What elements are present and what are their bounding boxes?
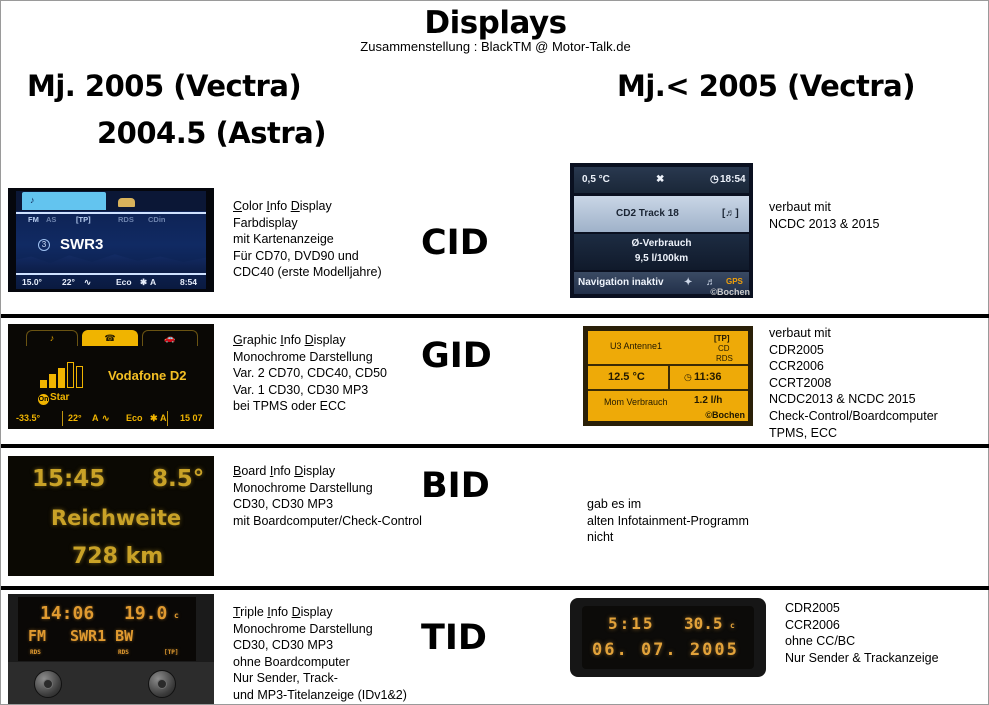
gid-outside-temp: -33.5° [16,413,40,423]
bid-clock: 15:45 [32,466,105,492]
gid-tab-row: ♪ ☎ 🚗 [26,330,202,346]
cid2-consumption-value: 9,5 l/100km [574,253,749,264]
bid-note-line-1: gab es im [587,496,749,513]
tid-description: Triple Info Display Monochrome Darstellu… [233,604,407,704]
bid-acronym: BID [421,466,490,506]
cid-outside-temp: 15.0° [22,277,42,287]
clock-icon: ◷ [710,174,719,185]
gid-note-line-4: CCRT2008 [769,375,938,392]
cid-eco: Eco [116,277,132,287]
cid-label-tp: [TP] [76,215,91,224]
bid-description: Board Info Display Monochrome Darstellun… [233,463,422,529]
car-icon: 🚗 [164,333,175,344]
volume-knob[interactable] [34,670,62,698]
cid2-nav-status: Navigation inaktiv [578,277,664,288]
car-icon [118,198,135,207]
tid-desc-line-6: und MP3-Titelanzeige (IDv1&2) [233,687,407,704]
cid2-top-bar: 0,5 °C ✖ ◷ 18:54 [574,167,749,193]
tid-bezel: 14:06 19.0 c FM SWR1 BW RDS RDS [TP] [8,594,214,662]
gid2-divider-bottom [588,389,748,391]
cid2-track-bar: CD2 Track 18 [♬] [574,196,749,232]
gid-auto-mode: A [92,413,99,423]
star-icon: ✦ [684,277,692,288]
tid-temp: 19.0 [124,603,167,624]
cid-label-as: AS [46,215,56,224]
tid-faceplate [8,662,214,704]
row-bid: 15:45 8.5° Reichweite 728 km Board Info … [1,448,989,586]
gid-note-line-6: Check-Control/Boardcomputer [769,408,938,425]
gid-description: Graphic Info Display Monochrome Darstell… [233,332,387,415]
row-tid: 14:06 19.0 c FM SWR1 BW RDS RDS [TP] Tri… [1,590,989,705]
gid2-consumption-label: Mom Verbrauch [604,397,668,407]
cid2-consumption: Ø-Verbrauch 9,5 l/100km [574,234,749,270]
cid-desc-line-3: mit Kartenanzeige [233,231,382,248]
music-note-icon: ♪ [30,195,35,205]
bid-label: Reichweite [51,506,181,530]
gid-tab-settings: 🚗 [142,330,198,346]
gid-ac: A [160,413,167,423]
bid-desc-line-3: CD30, CD30 MP3 [233,496,422,513]
signal-strength-icon [40,362,80,388]
tid-note-line-1: CDR2005 [785,600,939,617]
gid-note-line-2: CDR2005 [769,342,938,359]
airflow-icon: ∿ [102,413,110,424]
gid-note-line-3: CCR2006 [769,358,938,375]
fan-icon: ✱ [140,277,147,288]
tid-note-line-4: Nur Sender & Trackanzeige [785,650,939,667]
gid-eco: Eco [126,413,143,423]
airflow-icon: ∿ [84,277,91,288]
bid-note-line-3: nicht [587,529,749,546]
tid-screen: 14:06 19.0 c FM SWR1 BW RDS RDS [TP] [18,597,196,661]
page-title: Displays [1,5,989,41]
bid-note-line-2: alten Infotainment-Programm [587,513,749,530]
gid-display-photo: ♪ ☎ 🚗 OnStar Vodafone D2 -33.5° 22° A ∿ … [8,324,214,429]
tuning-knob[interactable] [148,670,176,698]
cd-icon: [♬] [722,208,739,219]
gid2-screen: U3 Antenne1 [TP] CD RDS 12.5 °C ◷ 11:36 … [588,331,748,421]
tid2-date: 06. 07. 2005 [592,640,739,660]
bid-desc-line-2: Monochrome Darstellung [233,480,422,497]
tid-tag-tp: [TP] [164,649,178,656]
page-subtitle: Zusammenstellung : BlackTM @ Motor-Talk.… [1,39,989,54]
cid-desc-line-2: Farbdisplay [233,215,382,232]
tid-desc-line-3: CD30, CD30 MP3 [233,637,407,654]
cid-desc-line-5: CDC40 (erste Modelljahre) [233,264,382,281]
gid-network-name: Vodafone D2 [108,368,187,383]
clock-icon: ◷ [684,372,692,383]
tid-station: SWR1 BW [70,627,133,645]
gid-desc-line-4: Var. 1 CD30, CD30 MP3 [233,382,387,399]
cid-tab-bar: ♪ [16,191,206,211]
gid-desc-line-2: Monochrome Darstellung [233,349,387,366]
gid2-clock: 11:36 [694,371,722,383]
tid2-temp: 30.5 [684,614,723,633]
gid-onstar-text: Star [50,392,69,403]
gid2-temp: 12.5 °C [608,371,645,383]
row-cid: ♪ FM AS [TP] RDS CDin 3 SWR3 15.0° [1,151,989,314]
cid-divider-top [16,212,206,214]
bid-display-photo: 15:45 8.5° Reichweite 728 km [8,456,214,576]
cid-screen: ♪ FM AS [TP] RDS CDin 3 SWR3 15.0° [16,191,206,289]
cid-status-labels: FM AS [TP] RDS CDin [16,215,206,226]
gid-note-line-5: NCDC2013 & NCDC 2015 [769,391,938,408]
gid2-tag-tp: [TP] [714,334,730,343]
cid-map-area [16,251,206,273]
tid-tag-rds-mid: RDS [118,649,129,656]
gid-note-line-1: verbaut mit [769,325,938,342]
tid-note-line-2: CCR2006 [785,617,939,634]
cid-preset-number: 3 [38,239,50,251]
tid-acronym: TID [421,618,487,658]
gid2-watermark: ©Bochen [705,410,745,420]
gid-onstar-label: OnStar [38,392,69,405]
gid-tab-audio: ♪ [26,330,78,346]
cid-status-bar: 15.0° 22° ∿ Eco ✱ A 8:54 [16,276,206,289]
gid-old-display-photo: U3 Antenne1 [TP] CD RDS 12.5 °C ◷ 11:36 … [583,326,753,426]
bid-desc-line-4: mit Boardcomputer/Check-Control [233,513,422,530]
cid-ac: A [150,277,156,287]
tid2-temp-unit: c [730,621,735,630]
gid2-tag-cd: CD [718,344,730,353]
tid-note: CDR2005 CCR2006 ohne CC/BC Nur Sender & … [785,600,939,666]
tid-desc-line-5: Nur Sender, Track- [233,670,407,687]
cid-clock: 8:54 [180,277,197,287]
cid2-consumption-label: Ø-Verbrauch [574,238,749,249]
bid-value: 728 km [72,544,163,569]
cid-note: verbaut mit NCDC 2013 & 2015 [769,199,879,232]
cid-tab-audio: ♪ [22,192,106,210]
tid-old-display-photo: 5:15 30.5 c 06. 07. 2005 [570,598,766,677]
gid-cabin-temp: 22° [68,413,82,423]
gid-tab-phone: ☎ [82,330,138,346]
tid-desc-line-2: Monochrome Darstellung [233,621,407,638]
cid-label-fm: FM [28,215,39,224]
cid2-track-line: CD2 Track 18 [616,208,679,219]
gid2-vertical-divider [668,365,670,389]
gid-desc-line-3: Var. 2 CD70, CDC40, CD50 [233,365,387,382]
tid-band: FM [28,627,46,645]
phone-icon: ☎ [104,333,115,344]
cid2-outside-temp: 0,5 °C [582,174,610,185]
displays-infographic: Displays Zusammenstellung : BlackTM @ Mo… [0,0,989,705]
crossed-tools-icon: ✖ [656,174,664,185]
gid-desc-line-5: bei TPMS oder ECC [233,398,387,415]
cid-label-cdin: CDin [148,215,166,224]
music-note-icon: ♪ [50,333,55,343]
column-heading-left-2: 2004.5 (Astra) [97,116,326,150]
cid-cabin-temp: 22° [62,277,75,287]
tid2-clock: 5:15 [608,614,655,633]
gid2-tag-rds: RDS [716,354,733,363]
tid-temp-unit: c [174,611,179,620]
gid-clock: 15 07 [180,413,203,423]
cid2-clock: 18:54 [720,174,746,185]
cid-label-rds: RDS [118,215,134,224]
cid-description: Color Info Display Farbdisplay mit Karte… [233,198,382,281]
tid2-screen: 5:15 30.5 c 06. 07. 2005 [582,606,754,669]
gps-icon: GPS [726,277,743,286]
cid-display-photo: ♪ FM AS [TP] RDS CDin 3 SWR3 15.0° [8,188,214,292]
bid-note: gab es im alten Infotainment-Programm ni… [587,496,749,546]
gid-note-line-7: TPMS, ECC [769,425,938,442]
cid-divider-bottom [16,273,206,275]
cid-old-display-photo: 0,5 °C ✖ ◷ 18:54 CD2 Track 18 [♬] Ø-Verb… [570,163,753,298]
tid-desc-line-4: ohne Boardcomputer [233,654,407,671]
onstar-icon: On [38,394,49,405]
cid-station-name: SWR3 [60,236,103,253]
cid-note-line-1: verbaut mit [769,199,879,216]
tid-tag-rds-left: RDS [30,649,41,656]
cid2-watermark: ©Bochen [710,287,750,297]
gid-status-bar: -33.5° 22° A ∿ Eco ✱ A 15 07 [8,412,214,426]
gid2-antenna: U3 Antenne1 [610,341,662,351]
tid-clock: 14:06 [40,603,94,624]
tid-note-line-3: ohne CC/BC [785,633,939,650]
gid-acronym: GID [421,336,492,376]
column-heading-right: Mj.< 2005 (Vectra) [617,69,915,103]
tid-display-photo: 14:06 19.0 c FM SWR1 BW RDS RDS [TP] [8,594,214,704]
cid-desc-line-4: Für CD70, DVD90 und [233,248,382,265]
cid-note-line-2: NCDC 2013 & 2015 [769,216,879,233]
column-heading-left-1: Mj. 2005 (Vectra) [27,69,301,103]
gid2-consumption-value: 1.2 l/h [694,395,722,406]
bid-temp: 8.5° [152,466,204,492]
gid-note: verbaut mit CDR2005 CCR2006 CCRT2008 NCD… [769,325,938,441]
row-gid: ♪ ☎ 🚗 OnStar Vodafone D2 -33.5° 22° A ∿ … [1,318,989,444]
fan-icon: ✱ [150,413,158,424]
cid-acronym: CID [421,223,489,263]
